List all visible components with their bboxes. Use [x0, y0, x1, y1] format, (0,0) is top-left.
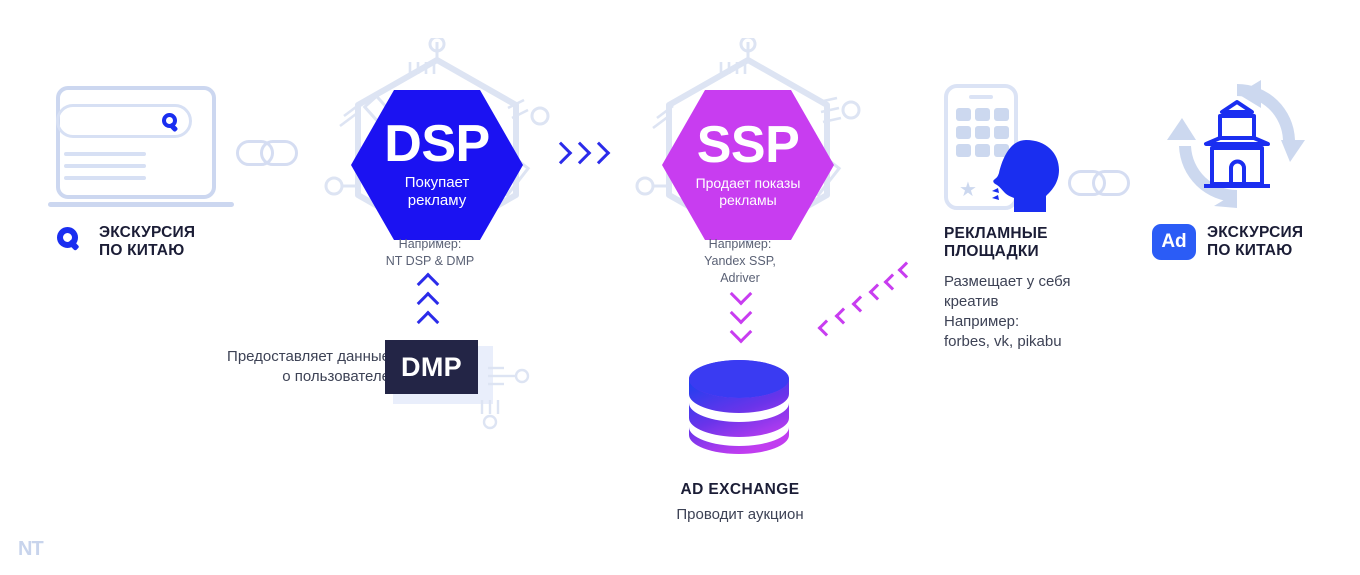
- dsp-title: DSP: [384, 120, 489, 169]
- dmp-title: DMP: [401, 352, 462, 383]
- dmp-description: Предоставляет данные о пользователе: [190, 347, 390, 387]
- dmp-box[interactable]: DMP: [385, 340, 478, 394]
- platforms-title-line1: РЕКЛАМНЫЕ: [944, 225, 1124, 243]
- platforms-description-line1: Размещает у себя: [944, 272, 1129, 292]
- magnifier-icon: [56, 226, 88, 258]
- final-label-line1: ЭКСКУРСИЯ: [1207, 224, 1303, 242]
- ad-badge: Ad: [1152, 224, 1196, 260]
- diagram-canvas: ЭКСКУРСИЯ ПО КИТАЮ: [0, 0, 1360, 575]
- platforms-description-line2: креатив: [944, 292, 1129, 312]
- dmp-circuit-decor: [470, 330, 540, 435]
- person-head-icon: [986, 140, 1062, 212]
- dsp-example-value: NT DSP & DMP: [340, 253, 520, 270]
- database-cylinder-icon: [686, 360, 792, 458]
- chain-link-icon: [1068, 170, 1130, 200]
- dsp-subtitle-line2: рекламу: [405, 192, 470, 210]
- dmp-description-line2: о пользователе: [190, 367, 390, 387]
- dmp-to-dsp-arrows: [420, 276, 442, 332]
- ssp-subtitle-line1: Продает показы: [696, 175, 801, 192]
- platforms-example: Например: forbes, vk, pikabu: [944, 312, 1129, 352]
- ad-badge-text: Ad: [1161, 231, 1186, 253]
- final-label-line2: ПО КИТАЮ: [1207, 242, 1303, 260]
- ssp-example-value-line1: Yandex SSP,: [650, 253, 830, 270]
- search-magnifier-icon: [162, 113, 177, 128]
- ad-exchange-title: AD EXCHANGE: [620, 481, 860, 499]
- ssp-to-adexchange-arrows: [733, 286, 755, 342]
- ad-exchange-label: AD EXCHANGE Проводит аукцион: [620, 481, 860, 523]
- nt-watermark-logo: NT: [18, 538, 43, 561]
- ssp-to-platforms-arrows: [818, 260, 918, 340]
- pagoda-refresh-icon: [1152, 78, 1322, 208]
- platforms-example-value: forbes, vk, pikabu: [944, 332, 1129, 352]
- platforms-description: Размещает у себя креатив: [944, 272, 1129, 312]
- platforms-example-label: Например:: [944, 312, 1129, 332]
- ssp-example-caption: Например: Yandex SSP, Adriver: [650, 236, 830, 287]
- platforms-title: РЕКЛАМНЫЕ ПЛОЩАДКИ: [944, 225, 1124, 262]
- ssp-example-label: Например:: [650, 236, 830, 253]
- browser-node-label: ЭКСКУРСИЯ ПО КИТАЮ: [56, 224, 266, 261]
- ssp-title: SSP: [697, 121, 800, 170]
- dmp-description-line1: Предоставляет данные: [190, 347, 390, 367]
- chain-link-icon: [236, 140, 298, 170]
- dsp-to-ssp-arrows: [553, 145, 609, 165]
- ssp-subtitle-line2: рекламы: [696, 192, 801, 209]
- final-node-label: Ad ЭКСКУРСИЯ ПО КИТАЮ: [1152, 224, 1352, 261]
- dsp-example-label: Например:: [340, 236, 520, 253]
- dsp-example-caption: Например: NT DSP & DMP: [340, 236, 520, 270]
- browser-label-line1: ЭКСКУРСИЯ: [99, 224, 195, 242]
- dsp-subtitle-line1: Покупает: [405, 174, 470, 192]
- browser-search-icon: [48, 86, 238, 216]
- ad-exchange-subtitle: Проводит аукцион: [620, 506, 860, 523]
- platforms-title-line2: ПЛОЩАДКИ: [944, 243, 1124, 261]
- browser-label-line2: ПО КИТАЮ: [99, 242, 195, 260]
- platforms-icon: ★: [944, 84, 1059, 212]
